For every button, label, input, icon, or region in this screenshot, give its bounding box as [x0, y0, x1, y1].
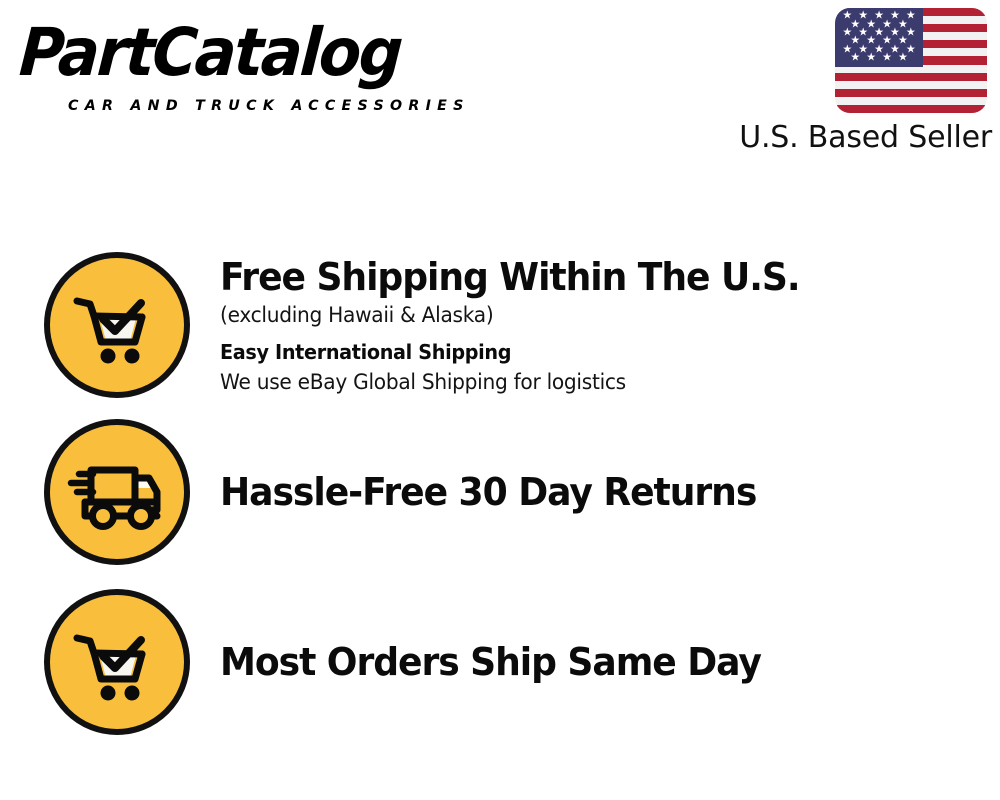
feature-text: Free Shipping Within The U.S. (excluding… [220, 254, 1000, 397]
feature-subtitle-strong: Easy International Shipping [220, 337, 950, 367]
shopping-cart-check-icon [44, 252, 190, 398]
feature-text: Most Orders Ship Same Day [220, 639, 1000, 685]
feature-row: Hassle-Free 30 Day Returns [0, 417, 1000, 567]
feature-row: Most Orders Ship Same Day [0, 587, 1000, 737]
shopping-cart-check-icon [44, 589, 190, 735]
feature-title: Free Shipping Within The U.S. [220, 254, 942, 300]
feature-subtitle-secondary: We use eBay Global Shipping for logistic… [220, 367, 950, 397]
us-flag-icon: ★ ★ ★ ★ ★ ★ ★ ★ ★ ★ ★ ★ ★ ★ ★ ★ ★ ★ ★ ★ [835, 8, 987, 113]
feature-title: Most Orders Ship Same Day [220, 639, 942, 685]
brand-wordmark: PartCatalog [17, 18, 459, 88]
feature-row: Free Shipping Within The U.S. (excluding… [0, 245, 1000, 405]
delivery-truck-icon [44, 419, 190, 565]
feature-title: Hassle-Free 30 Day Returns [220, 469, 942, 515]
seller-badge-label: U.S. Based Seller [730, 120, 992, 156]
feature-text: Hassle-Free 30 Day Returns [220, 469, 1000, 515]
brand-tagline: CAR AND TRUCK ACCESSORIES [68, 98, 470, 114]
flag-canton: ★ ★ ★ ★ ★ ★ ★ ★ ★ ★ ★ ★ ★ ★ ★ ★ ★ ★ ★ ★ [835, 8, 923, 67]
seller-badge: ★ ★ ★ ★ ★ ★ ★ ★ ★ ★ ★ ★ ★ ★ ★ ★ ★ ★ ★ ★ [730, 8, 992, 156]
feature-subtitle: (excluding Hawaii & Alaska) [220, 300, 950, 330]
seller-info-banner: PartCatalog CAR AND TRUCK ACCESSORIES ★ … [0, 0, 1000, 800]
brand-logo[interactable]: PartCatalog CAR AND TRUCK ACCESSORIES [22, 18, 492, 118]
